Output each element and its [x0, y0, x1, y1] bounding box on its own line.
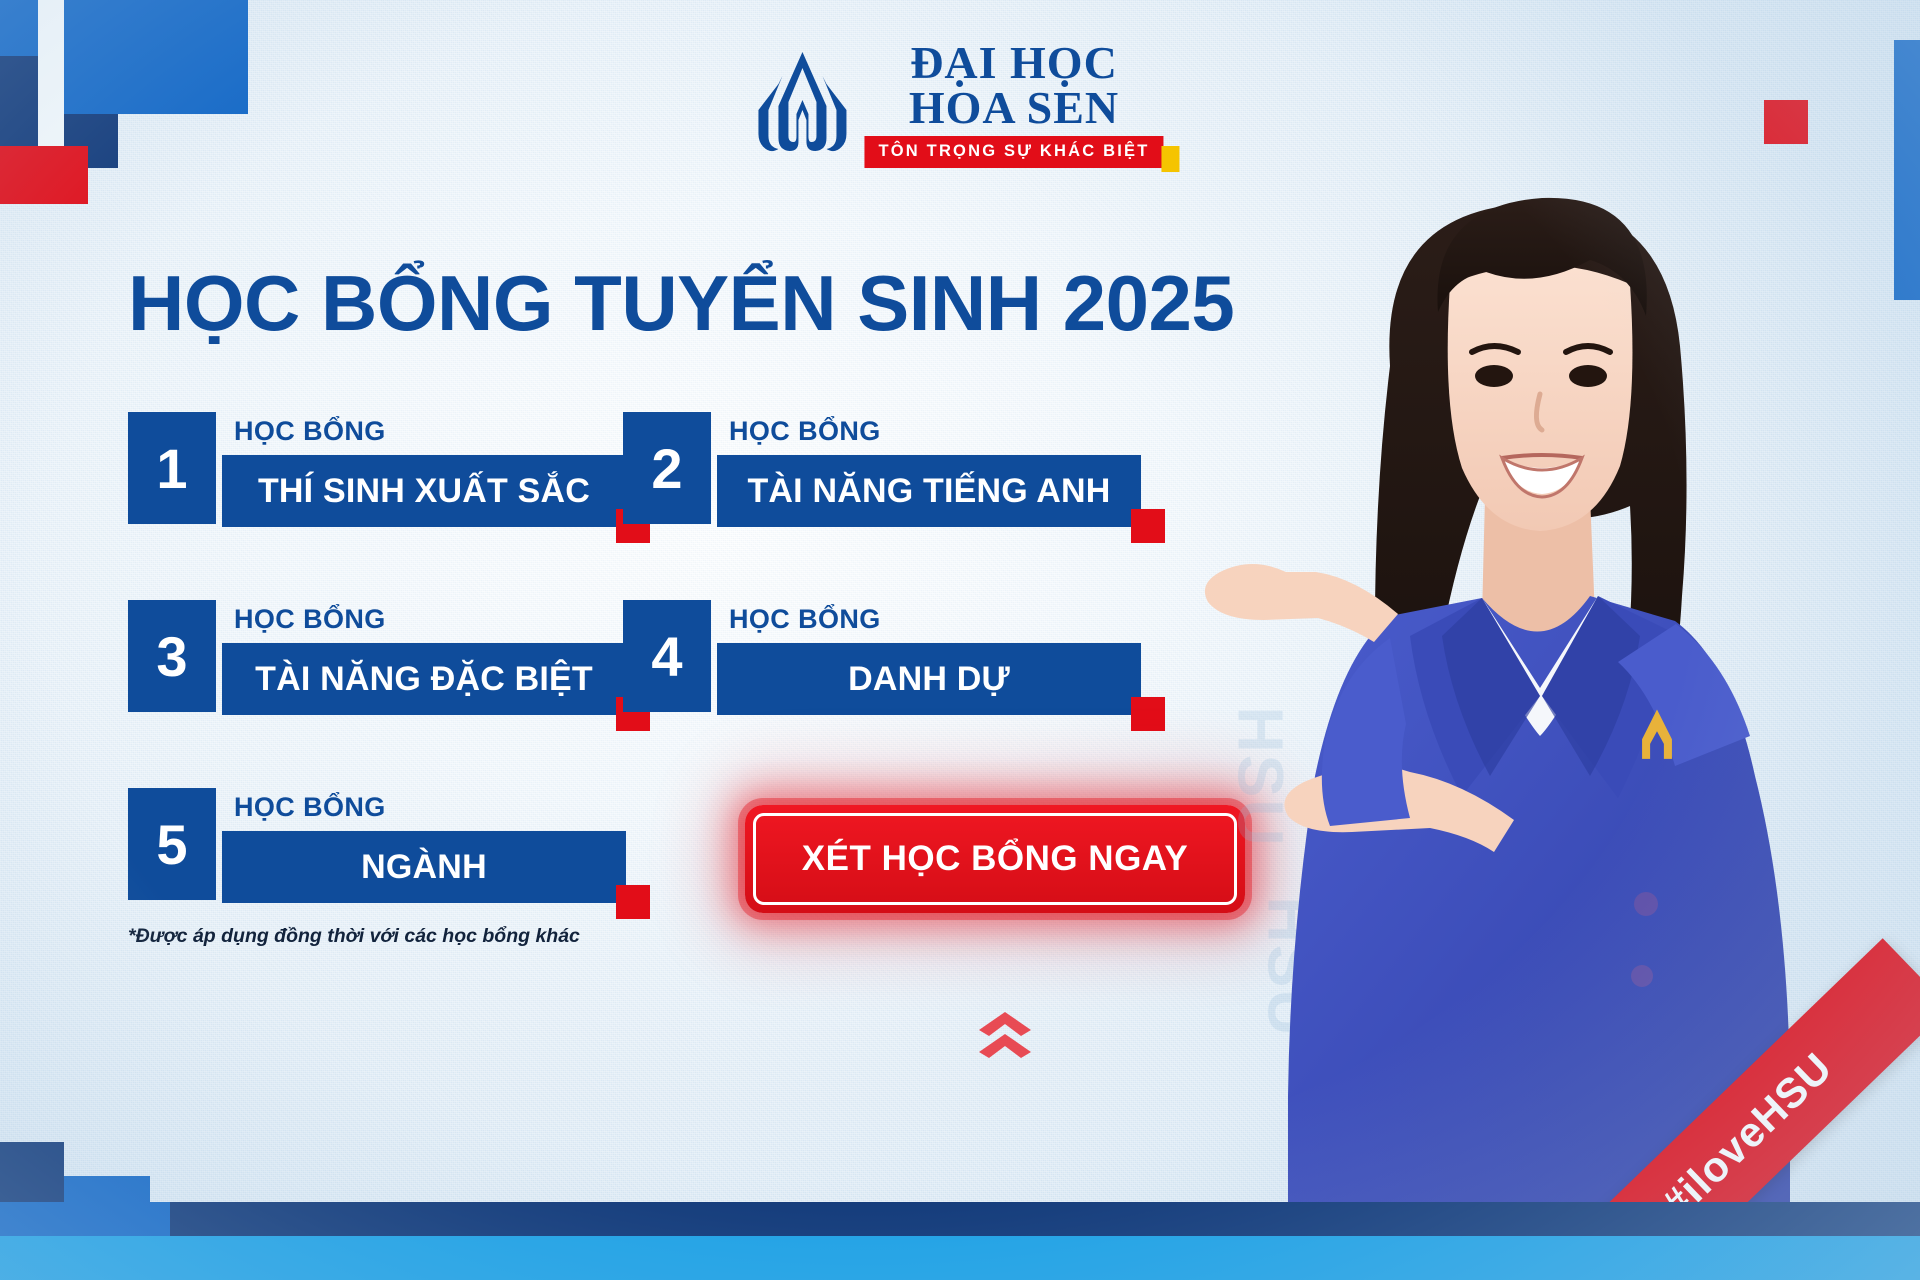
scholarship-item-4[interactable]: 4 HỌC BỔNG DANH DỰ — [623, 600, 1141, 715]
scholarship-name: THÍ SINH XUẤT SẮC — [258, 472, 590, 511]
scholarship-number: 4 — [623, 600, 711, 712]
scholarship-name: DANH DỰ — [848, 660, 1010, 699]
scholarship-name-bar: THÍ SINH XUẤT SẮC — [222, 455, 626, 527]
scholarship-item-2[interactable]: 2 HỌC BỔNG TÀI NĂNG TIẾNG ANH — [623, 412, 1141, 527]
scholarship-kicker: HỌC BỔNG — [717, 412, 1141, 455]
deco-red-top-left — [0, 146, 88, 204]
scholarship-name: TÀI NĂNG ĐẶC BIỆT — [255, 660, 593, 699]
poster-canvas: ĐẠI HỌC HOA SEN TÔN TRỌNG SỰ KHÁC BIỆT H… — [0, 0, 1920, 1280]
deco-bottom-left-navy — [0, 1142, 64, 1202]
scholarship-name: NGÀNH — [361, 848, 487, 887]
hsu-lotus-mark-icon — [756, 50, 848, 158]
scholarship-number: 5 — [128, 788, 216, 900]
page-title: HỌC BỔNG TUYỂN SINH 2025 — [128, 258, 1234, 349]
deco-white-gap — [38, 0, 64, 168]
double-chevron-up-icon — [975, 1010, 1035, 1064]
scholarship-name-bar: TÀI NĂNG TIẾNG ANH — [717, 455, 1141, 527]
scholarship-item-3[interactable]: 3 HỌC BỔNG TÀI NĂNG ĐẶC BIỆT — [128, 600, 626, 715]
scholarship-kicker: HỌC BỔNG — [222, 412, 626, 455]
scholarship-kicker: HỌC BỔNG — [222, 600, 626, 643]
scholarship-name-bar: NGÀNH — [222, 831, 626, 903]
scholarship-name-bar: DANH DỰ — [717, 643, 1141, 715]
deco-blue-top-left-bar-2 — [62, 56, 248, 114]
deco-bottom-navy-bar — [0, 1202, 1920, 1236]
footnote-note: *Được áp dụng đồng thời với các học bổng… — [128, 925, 580, 948]
scholarship-number: 1 — [128, 412, 216, 524]
scholarship-number: 2 — [623, 412, 711, 524]
deco-bottom-left-blue-2 — [64, 1176, 150, 1202]
brand-name-line-1: ĐẠI HỌC — [910, 40, 1118, 85]
scholarship-kicker: HỌC BỔNG — [222, 788, 626, 831]
scholarship-item-1[interactable]: 1 HỌC BỔNG THÍ SINH XUẤT SẮC — [128, 412, 626, 527]
deco-red-square — [616, 885, 650, 919]
deco-bottom-left-blue — [0, 1202, 170, 1236]
brand-name-line-2: HOA SEN — [909, 85, 1119, 130]
scholarship-number: 3 — [128, 600, 216, 712]
deco-bottom-blue-bar — [0, 1236, 1920, 1280]
scholarship-kicker: HỌC BỔNG — [717, 600, 1141, 643]
scholarship-name-bar: TÀI NĂNG ĐẶC BIỆT — [222, 643, 626, 715]
scholarship-item-5[interactable]: 5 HỌC BỔNG NGÀNH — [128, 788, 626, 903]
scholarship-name: TÀI NĂNG TIẾNG ANH — [747, 472, 1110, 511]
